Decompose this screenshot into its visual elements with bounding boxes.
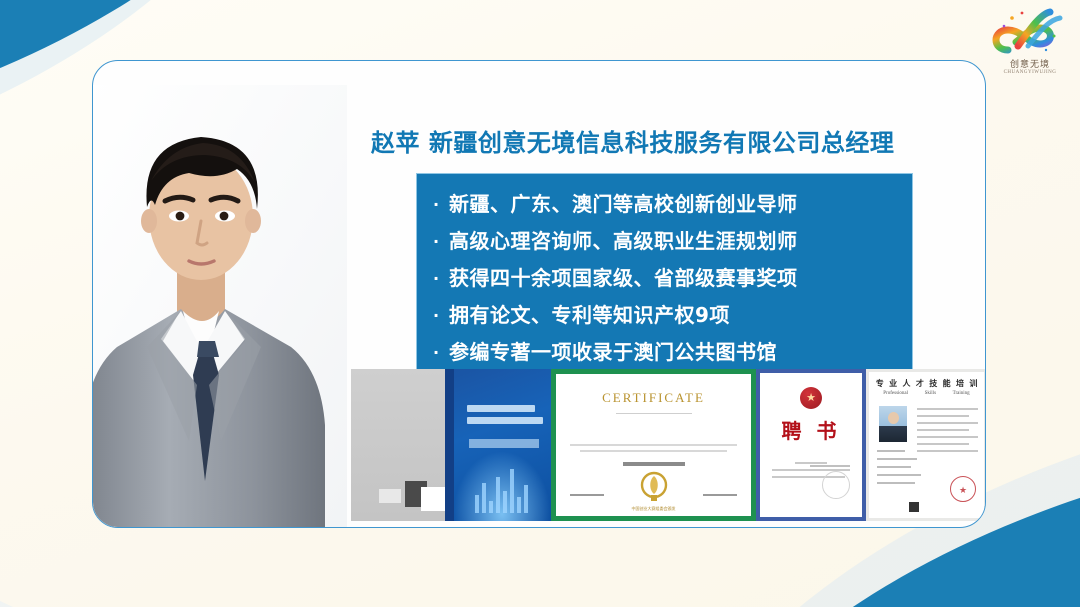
book-cover-subtitle [469, 439, 539, 448]
gold-medal-seal-icon [639, 470, 669, 502]
national-emblem-icon [800, 387, 822, 409]
certificate-thumbnail-training[interactable]: 专 业 人 才 技 能 培 训 Professional Skills Trai… [866, 369, 986, 521]
training-title-char: 人 [902, 378, 910, 389]
training-title-cn: 专 业 人 才 技 能 培 训 [869, 372, 984, 389]
training-title-char: 能 [943, 378, 951, 389]
infinity-ribbon-logo-icon [988, 6, 1072, 62]
training-title-en: Professional Skills Training [869, 389, 984, 396]
list-item-label: 获得四十余项国家级、省部级赛事奖项 [449, 260, 798, 297]
bullet-marker: · [433, 186, 449, 223]
certificate-thumbnail-book[interactable] [351, 369, 551, 521]
training-subtitle-word: Skills [925, 391, 936, 396]
list-item-label: 新疆、广东、澳门等高校创新创业导师 [449, 186, 798, 223]
book-cover-bars [475, 469, 528, 513]
certificate-signature-left [570, 491, 604, 496]
credentials-panel: · 新疆、广东、澳门等高校创新创业导师 · 高级心理咨询师、高级职业生涯规划师 … [416, 173, 913, 376]
training-title-char: 培 [956, 378, 964, 389]
profile-card: 赵苹 新疆创意无境信息科技服务有限公司总经理 · 新疆、广东、澳门等高校创新创业… [92, 60, 986, 528]
certificate-thumbnail-award[interactable]: CERTIFICATE 中国创业大赛组委会颁发 [551, 369, 756, 521]
logo-name-cn: 创意无境 [988, 60, 1072, 70]
background-swoosh-bottom-left [0, 517, 280, 607]
training-qr-code [909, 502, 919, 512]
appointment-stamp [822, 471, 850, 499]
list-item-label: 参编专著一项收录于澳门公共图书馆 [449, 334, 777, 371]
bullet-marker: · [433, 260, 449, 297]
training-title-char: 专 [876, 378, 884, 389]
list-item-label: 高级心理咨询师、高级职业生涯规划师 [449, 223, 798, 260]
training-title-char: 技 [929, 378, 937, 389]
avatar [92, 85, 347, 528]
bullet-marker: · [433, 297, 449, 334]
list-item: · 拥有论文、专利等知识产权9项 [433, 297, 912, 334]
certificate-gallery: CERTIFICATE 中国创业大赛组委会颁发 [351, 369, 986, 528]
list-item: · 获得四十余项国家级、省部级赛事奖项 [433, 260, 912, 297]
certificate-body-lines [570, 444, 737, 452]
page-title: 赵苹 新疆创意无境信息科技服务有限公司总经理 [371, 123, 971, 158]
appointment-title: 聘 书 [760, 415, 862, 444]
certificate-signature-right [703, 491, 737, 496]
training-title-char: 才 [916, 378, 924, 389]
training-id-photo [879, 406, 907, 442]
list-item: · 新疆、广东、澳门等高校创新创业导师 [433, 186, 912, 223]
book-front-cover [445, 369, 551, 521]
brand-logo: 创意无境 CHUANGYIWUJING [988, 6, 1072, 90]
portrait-photo [92, 85, 347, 528]
list-item-label: 拥有论文、专利等知识产权9项 [449, 297, 730, 334]
appointment-signature [810, 465, 850, 467]
bullet-marker: · [433, 223, 449, 260]
training-title-char: 业 [889, 378, 897, 389]
training-body-lines [917, 408, 978, 457]
book-cover-title [467, 405, 543, 429]
training-field-lines [877, 450, 921, 490]
training-title-char: 训 [969, 378, 977, 389]
book-back-cover [351, 369, 445, 521]
certificate-divider [616, 413, 692, 414]
certificate-title: CERTIFICATE [556, 390, 751, 406]
certificate-thumbnail-appointment[interactable]: 聘 书 [756, 369, 866, 521]
training-subtitle-word: Training [953, 391, 970, 396]
certificate-footer: 中国创业大赛组委会颁发 [556, 506, 751, 512]
training-red-seal-icon [950, 476, 976, 502]
logo-name-en: CHUANGYIWUJING [988, 70, 1072, 76]
bullet-marker: · [433, 334, 449, 371]
list-item: · 参编专著一项收录于澳门公共图书馆 [433, 334, 912, 371]
certificate-recipient-line [623, 462, 685, 466]
training-subtitle-word: Professional [883, 391, 908, 396]
list-item: · 高级心理咨询师、高级职业生涯规划师 [433, 223, 912, 260]
